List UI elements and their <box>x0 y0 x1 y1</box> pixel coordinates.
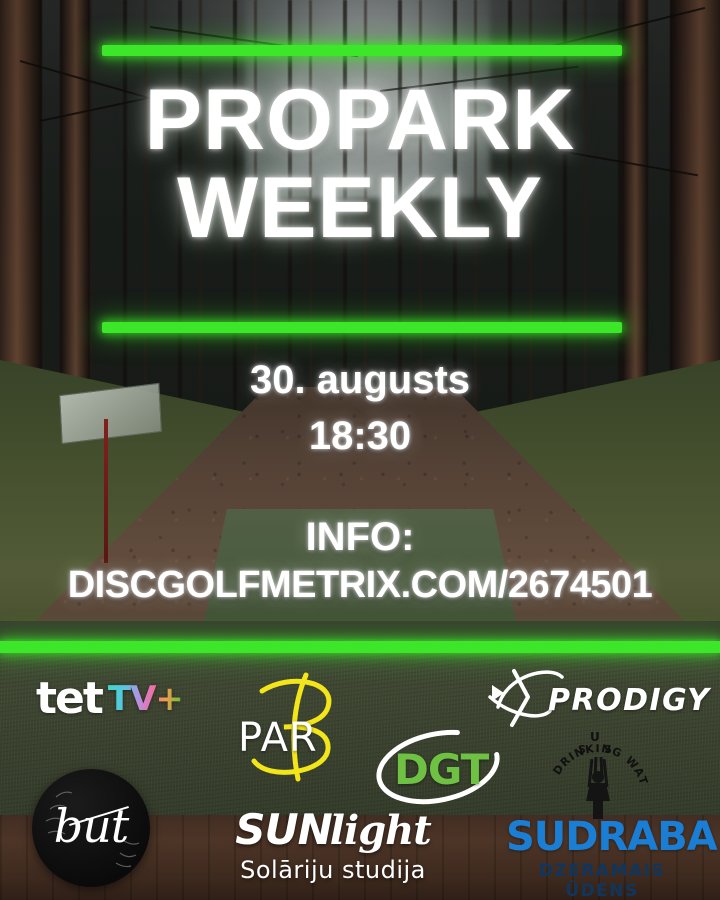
sponsor-logo-us-drinking-water: DRINKING WATER U S S <box>548 727 648 819</box>
star-letter-u: U <box>590 730 600 744</box>
event-datetime: 30. augusts 18:30 <box>0 352 720 464</box>
accent-bar-middle <box>102 322 622 333</box>
sponsor-logo-prodigy: PRODIGY <box>488 667 706 729</box>
sponsor-logo-sudraba: SUDRABA DZERAMAIS ŪDENS <box>506 817 698 887</box>
event-time: 18:30 <box>0 408 720 464</box>
star-letter-s2: S <box>604 743 612 756</box>
accent-bar-bottom <box>0 641 720 653</box>
par-wordmark: PAR <box>238 715 318 761</box>
title-line-2: WEEKLY <box>0 166 720 250</box>
sudraba-subtitle: DZERAMAIS ŪDENS <box>506 861 698 900</box>
but-wordmark: but <box>32 799 150 853</box>
dgt-wordmark: DGT <box>394 745 488 794</box>
event-info: INFO: DISCGOLFMETRIX.COM/2674501 <box>0 512 720 610</box>
sun-word-bold: SUN <box>235 805 332 854</box>
star-letter-s1: S <box>578 743 586 756</box>
freedom-monument-drinking-water-icon: DRINKING WATER U S S <box>548 727 648 819</box>
title-line-1: PROPARK <box>145 72 576 168</box>
sponsor-logo-sunlight: SUNlight Solāriju studija <box>228 805 438 879</box>
poster-title: PROPARK WEEKLY <box>0 78 720 251</box>
accent-bar-top <box>102 45 622 56</box>
event-date: 30. augusts <box>0 352 720 408</box>
info-url[interactable]: DISCGOLFMETRIX.COM/2674501 <box>0 562 720 610</box>
sponsor-band: tet TV+ PAR PRODIGY DGT <box>0 653 720 900</box>
sunlight-wordmark: SUNlight <box>228 805 438 854</box>
prodigy-wordmark: PRODIGY <box>548 683 710 718</box>
sunlight-subtitle: Solāriju studija <box>228 856 438 884</box>
tv-plus-wordmark: TV+ <box>108 682 183 716</box>
sudraba-wordmark: SUDRABA <box>506 817 698 857</box>
tet-wordmark: tet <box>36 677 102 721</box>
sponsor-logo-3par: PAR <box>232 669 352 787</box>
sun-word-script: light <box>330 807 431 854</box>
sponsor-logo-but: but <box>32 769 150 887</box>
poster-root: PROPARK WEEKLY 30. augusts 18:30 INFO: D… <box>0 0 720 900</box>
sponsor-logo-dgt: DGT <box>372 723 504 811</box>
info-label: INFO: <box>0 512 720 562</box>
sponsor-logo-tet-tv-plus: tet TV+ <box>36 677 183 721</box>
